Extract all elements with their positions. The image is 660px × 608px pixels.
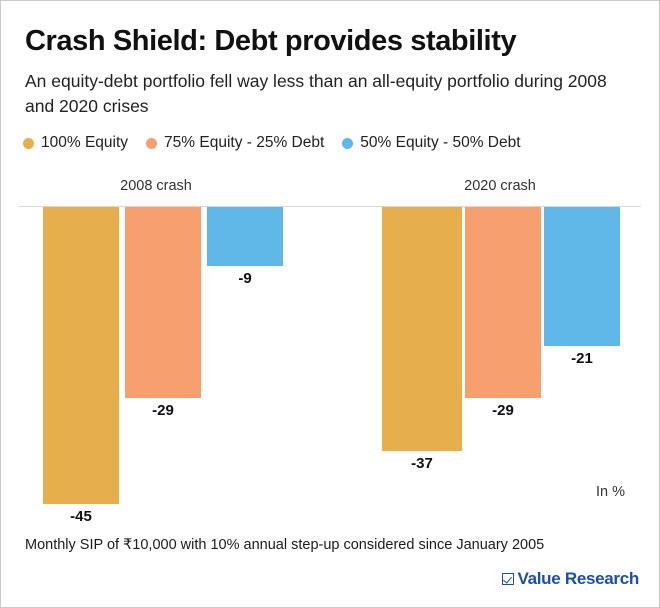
bar-2020-100-equity[interactable] (382, 207, 462, 451)
bar-label-2008-100-equity: -45 (70, 508, 92, 525)
legend-dot-icon (23, 138, 34, 149)
bar-label-2020-50-equity-50-debt: -21 (571, 350, 593, 367)
legend-dot-icon (342, 138, 353, 149)
bar-2008-100-equity[interactable] (43, 207, 119, 504)
legend-label: 75% Equity - 25% Debt (164, 134, 324, 152)
bar-2020-50-equity-50-debt[interactable] (544, 207, 620, 346)
legend-item-75-equity-25-debt[interactable]: 75% Equity - 25% Debt (146, 134, 324, 152)
bar-label-2008-75-equity-25-debt: -29 (152, 402, 174, 419)
chart-subtitle: An equity-debt portfolio fell way less t… (25, 69, 625, 119)
chart-plot-area: 2008 crash 2020 crash -45 -29 -9 -37 -29… (1, 166, 660, 516)
brand-logo[interactable]: Value Research (502, 569, 640, 589)
bar-label-2020-75-equity-25-debt: -29 (492, 402, 514, 419)
legend-dot-icon (146, 138, 157, 149)
legend-item-100-equity[interactable]: 100% Equity (23, 134, 128, 152)
legend-item-50-equity-50-debt[interactable]: 50% Equity - 50% Debt (342, 134, 520, 152)
group-label-2008: 2008 crash (120, 178, 192, 194)
legend-label: 50% Equity - 50% Debt (360, 134, 520, 152)
brand-name: Value Research (518, 569, 640, 589)
group-label-2020: 2020 crash (464, 178, 536, 194)
checkbox-checked-icon (502, 573, 514, 585)
legend-label: 100% Equity (41, 134, 128, 152)
bar-2008-50-equity-50-debt[interactable] (207, 207, 283, 266)
bar-label-2020-100-equity: -37 (411, 455, 433, 472)
chart-card: Crash Shield: Debt provides stability An… (0, 0, 660, 608)
page-title: Crash Shield: Debt provides stability (25, 25, 637, 57)
bar-2008-75-equity-25-debt[interactable] (125, 207, 201, 398)
bar-label-2008-50-equity-50-debt: -9 (238, 270, 251, 287)
unit-label: In % (596, 484, 625, 500)
chart-footnote: Monthly SIP of ₹10,000 with 10% annual s… (25, 537, 544, 553)
bar-2020-75-equity-25-debt[interactable] (465, 207, 541, 398)
chart-legend: 100% Equity 75% Equity - 25% Debt 50% Eq… (23, 134, 521, 152)
